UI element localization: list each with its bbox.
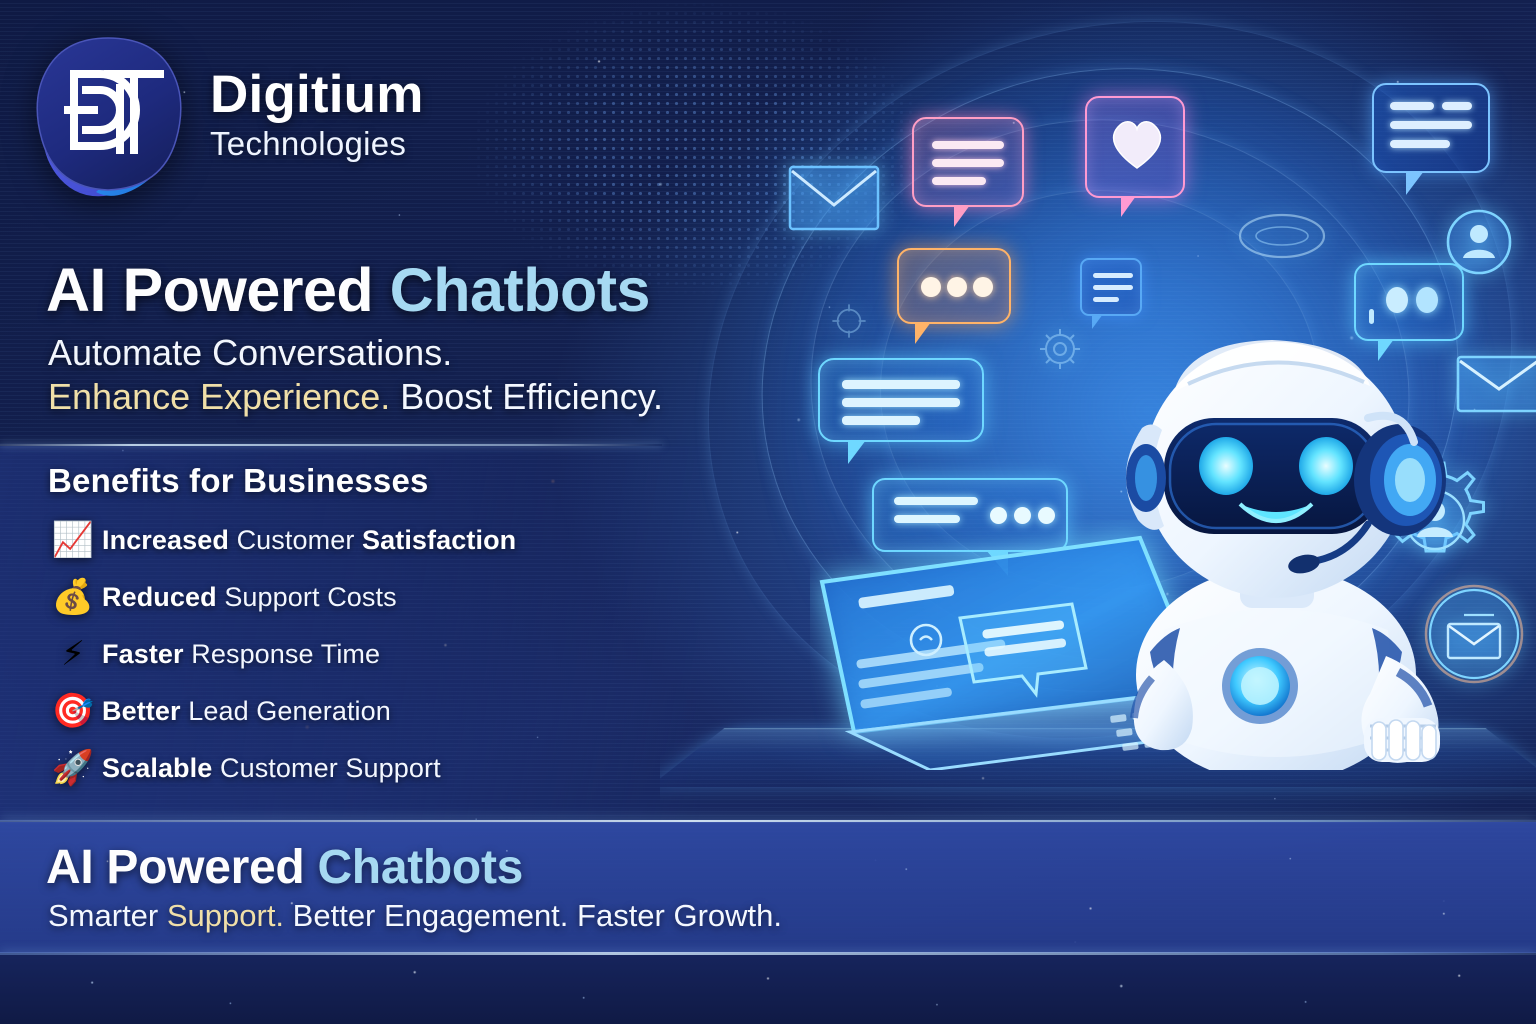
footer-tagline-b: Better Engagement. Faster Growth. (284, 898, 782, 933)
gear-outline-icon (828, 300, 870, 342)
benefit-bold-word: Scalable (102, 753, 220, 783)
benefit-mid-word: Support Costs (224, 582, 396, 612)
benefit-bold-word: Faster (102, 639, 191, 669)
money-bag-icon: 💰 (44, 580, 102, 614)
benefit-mid-word: Response Time (191, 639, 380, 669)
headline-part-one: AI Powered (46, 256, 390, 324)
target-bullseye-icon: 🎯 (44, 694, 102, 728)
brand-logo-block[interactable]: Digitium Technologies (30, 28, 424, 200)
ring-icon (1238, 212, 1326, 260)
benefit-label: Faster Response Time (102, 639, 380, 670)
benefit-label: Scalable Customer Support (102, 753, 441, 784)
subheadline-white-text: Boost Efficiency. (400, 376, 663, 417)
envelope-icon (788, 165, 880, 231)
benefit-mid-word: Customer (237, 525, 362, 555)
benefit-bold-word: Better (102, 696, 188, 726)
list-item: 🎯 Better Lead Generation (44, 683, 664, 739)
page-title: AI Powered Chatbots (46, 255, 650, 325)
bottom-strip (0, 955, 1536, 1024)
list-item: 💰 Reduced Support Costs (44, 569, 664, 625)
headline-part-two: Chatbots (390, 256, 650, 324)
rocket-icon: 🚀 (44, 751, 102, 785)
benefit-bold-word-2: Satisfaction (362, 525, 516, 555)
speech-bubble-icon (1372, 83, 1490, 173)
brand-name: Digitium (210, 68, 424, 121)
footer-tagline-a: Smarter (48, 898, 167, 933)
benefit-bold-word: Increased (102, 525, 237, 555)
divider-above-benefits (0, 444, 662, 446)
brand-text: Digitium Technologies (210, 68, 424, 160)
chart-increasing-icon: 📈 (44, 523, 102, 557)
brand-subtitle: Technologies (210, 127, 424, 160)
benefit-mid-word: Customer Support (220, 753, 441, 783)
subheadline-gold-text: Enhance Experience. (48, 376, 400, 417)
footer-tagline-highlight: Support. (167, 898, 284, 933)
footer-title: AI Powered Chatbots (46, 840, 523, 895)
subheadline-line-1: Automate Conversations. (48, 332, 452, 374)
benefit-label: Better Lead Generation (102, 696, 391, 727)
heart-bubble-icon (1085, 96, 1185, 198)
benefits-list: 📈 Increased Customer Satisfaction 💰 Redu… (44, 512, 664, 797)
hero-artwork (660, 0, 1536, 822)
subheadline-line-2: Enhance Experience. Boost Efficiency. (48, 376, 663, 418)
user-circle-icon (1445, 208, 1513, 276)
chat-bubble-large-icon (818, 358, 984, 442)
benefit-bold-word: Reduced (102, 582, 224, 612)
footer-title-part-one: AI Powered (46, 841, 317, 894)
benefit-label: Increased Customer Satisfaction (102, 525, 516, 556)
benefits-heading: Benefits for Businesses (48, 462, 429, 500)
benefit-label: Reduced Support Costs (102, 582, 397, 613)
dt-monogram-shield-logo (30, 28, 192, 200)
list-item: ⚡ Faster Response Time (44, 626, 664, 682)
footer-tagline: Smarter Support. Better Engagement. Fast… (48, 898, 782, 934)
list-item: 📈 Increased Customer Satisfaction (44, 512, 664, 568)
footer-title-part-two: Chatbots (317, 841, 523, 894)
list-item: 🚀 Scalable Customer Support (44, 740, 664, 796)
marketing-banner: Digitium Technologies AI Powered Chatbot… (0, 0, 1536, 1024)
chat-bubble-dots-icon (897, 248, 1011, 324)
white-ai-chatbot-robot-with-headset (1068, 300, 1488, 770)
chat-bubble-lines-icon (912, 117, 1024, 207)
benefit-mid-word: Lead Generation (188, 696, 391, 726)
lightning-bolt-icon: ⚡ (44, 637, 102, 671)
